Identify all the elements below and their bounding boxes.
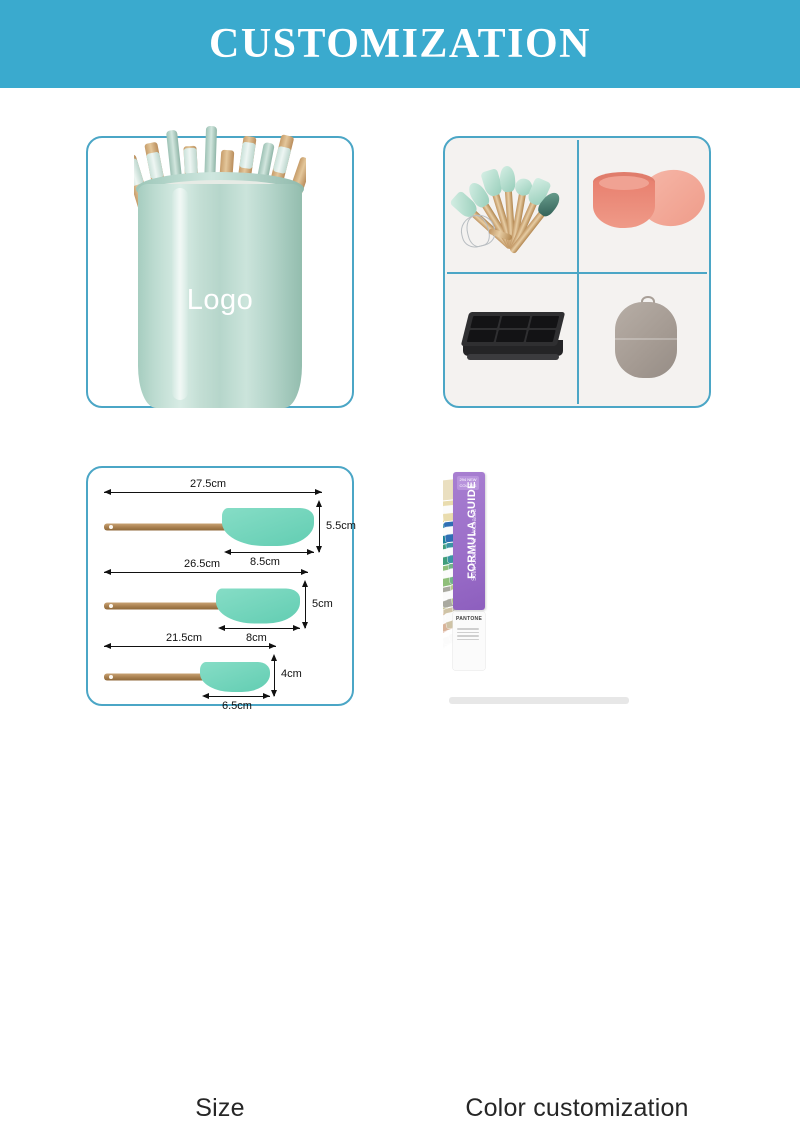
customization-infographic: CUSTOMIZATION [0, 0, 800, 800]
brand-fineprint [457, 628, 479, 642]
dim-height-medium: 5cm [312, 598, 333, 610]
fan-deck-cover: 294 NEW COLORS FORMULA GUIDE Solid Coate… [453, 472, 485, 610]
spatula-medium: 26.5cm 5cm 8cm [104, 584, 326, 628]
image-oem-odm: Logo [86, 136, 354, 408]
logo-placeholder: Logo [86, 284, 354, 317]
utensil-set-image [459, 150, 569, 254]
dim-width-small: 6.5cm [222, 700, 252, 712]
dim-length-medium: 26.5cm [184, 558, 220, 570]
color-fan-deck [469, 480, 685, 690]
goods-quadrant-grid [443, 136, 711, 408]
card-color-customization[interactable]: 294 NEW COLORS FORMULA GUIDE Solid Coate… [443, 466, 711, 706]
quadrant-ice-tray[interactable] [443, 272, 577, 408]
brand-label: PANTONE [456, 616, 482, 622]
fan-deck-base [449, 697, 629, 704]
dim-width-medium: 8cm [246, 632, 267, 644]
ice-tray-image [461, 312, 565, 364]
quadrant-utensil-set[interactable] [443, 136, 577, 272]
quadrant-cake-pan[interactable] [577, 136, 711, 272]
dim-height-small: 4cm [281, 668, 302, 680]
spatula-large: 27.5cm 5.5cm 8.5cm [104, 504, 336, 550]
spatula-small: 21.5cm 4cm 6.5cm [104, 658, 294, 696]
cover-subtitle: Solid Coated & Uncoated [472, 493, 478, 597]
dim-height-large: 5.5cm [326, 520, 356, 532]
card-variety[interactable]: Great variety of goods [443, 136, 711, 408]
dim-length-large: 27.5cm [190, 478, 226, 490]
caption-color-customization: Color customization [443, 1094, 711, 1123]
dim-width-large: 8.5cm [250, 556, 280, 568]
fan-deck-brand-card: PANTONE [453, 612, 485, 670]
page-title: CUSTOMIZATION [209, 23, 591, 65]
header-banner: CUSTOMIZATION [0, 0, 800, 88]
card-size[interactable]: 27.5cm 5.5cm 8.5cm [86, 466, 354, 706]
size-diagram: 27.5cm 5.5cm 8.5cm [86, 466, 354, 706]
card-oem-odm[interactable]: Logo OEM & ODM [86, 136, 354, 408]
feature-grid: Logo OEM & ODM [0, 88, 800, 800]
quadrant-pot-holder[interactable] [577, 272, 711, 408]
dim-length-small: 21.5cm [166, 632, 202, 644]
caption-size: Size [86, 1094, 354, 1123]
pantone-fan-deck-image: 294 NEW COLORS FORMULA GUIDE Solid Coate… [443, 466, 711, 706]
